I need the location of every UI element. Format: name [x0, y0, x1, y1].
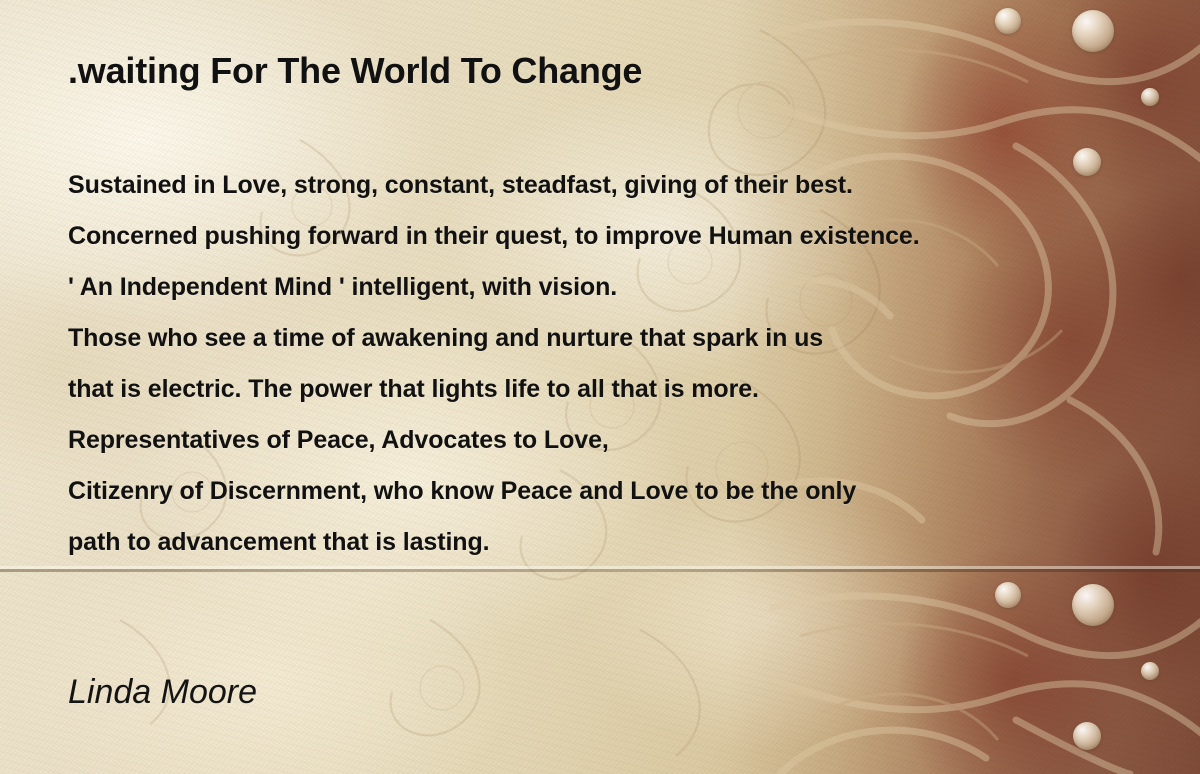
pearl-bead: [1072, 584, 1114, 626]
panel-divider: [0, 569, 1200, 572]
poem-line: path to advancement that is lasting.: [68, 517, 1188, 568]
poem-line: ' An Independent Mind ' intelligent, wit…: [68, 262, 1188, 313]
poem-card: .waiting For The World To Change Sustain…: [0, 0, 1200, 774]
poem-body: Sustained in Love, strong, constant, ste…: [68, 160, 1188, 568]
poem-line: Those who see a time of awakening and nu…: [68, 313, 1188, 364]
poem-line: that is electric. The power that lights …: [68, 364, 1188, 415]
page-title: .waiting For The World To Change: [68, 50, 642, 92]
pearl-bead: [995, 582, 1021, 608]
pearl-bead: [1073, 722, 1101, 750]
pearl-bead: [995, 8, 1021, 34]
poem-line: Sustained in Love, strong, constant, ste…: [68, 160, 1188, 211]
pearl-bead: [1141, 88, 1159, 106]
poem-line: Representatives of Peace, Advocates to L…: [68, 415, 1188, 466]
author-name: Linda Moore: [68, 673, 257, 712]
pearl-bead: [1072, 10, 1114, 52]
pearl-bead: [1141, 662, 1159, 680]
poem-line: Citizenry of Discernment, who know Peace…: [68, 466, 1188, 517]
poem-line: Concerned pushing forward in their quest…: [68, 211, 1188, 262]
